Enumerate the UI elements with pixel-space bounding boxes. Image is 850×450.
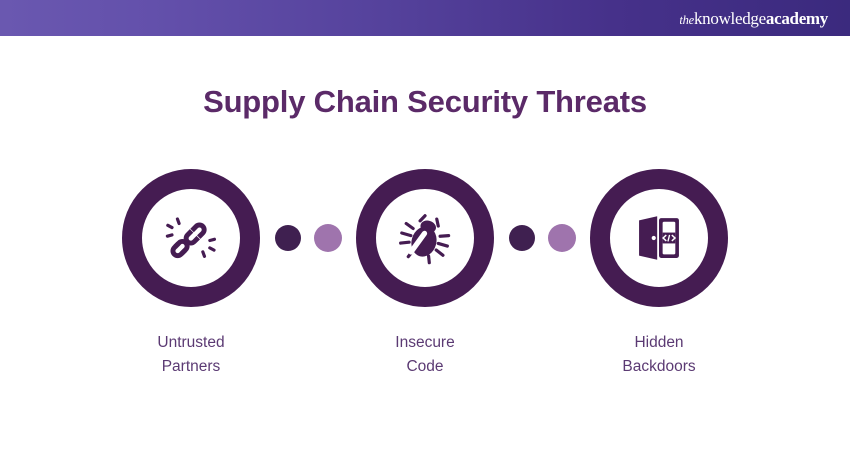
flow-node-label-insecure-code: Insecure Code bbox=[335, 331, 515, 378]
connector-dot-light bbox=[314, 224, 342, 252]
broken-chain-icon bbox=[160, 207, 222, 269]
brand-logo-the: the bbox=[679, 13, 694, 27]
flow-node-hidden-backdoors: Hidden Backdoors bbox=[590, 169, 728, 378]
bug-icon bbox=[395, 208, 455, 268]
connector-dot-light bbox=[548, 224, 576, 252]
icon-ring-hidden-backdoors bbox=[590, 169, 728, 307]
open-door-code-icon bbox=[630, 209, 688, 267]
brand-logo-academy: academy bbox=[766, 9, 828, 28]
header-band: theknowledgeacademy bbox=[0, 0, 850, 36]
icon-ring-untrusted-partners bbox=[122, 169, 260, 307]
brand-logo-knowledge: knowledge bbox=[694, 9, 766, 28]
flow-node-label-untrusted-partners: Untrusted Partners bbox=[101, 331, 281, 378]
brand-logo: theknowledgeacademy bbox=[679, 10, 828, 27]
flow-connector-2 bbox=[494, 169, 590, 307]
icon-ring-insecure-code bbox=[356, 169, 494, 307]
flow-node-insecure-code: Insecure Code bbox=[356, 169, 494, 378]
threat-flow-diagram: Untrusted Partners bbox=[0, 169, 850, 378]
flow-node-untrusted-partners: Untrusted Partners bbox=[122, 169, 260, 378]
flow-connector-1 bbox=[260, 169, 356, 307]
connector-dot-dark bbox=[275, 225, 301, 251]
flow-node-label-hidden-backdoors: Hidden Backdoors bbox=[569, 331, 749, 378]
page-title: Supply Chain Security Threats bbox=[0, 84, 850, 120]
connector-dot-dark bbox=[509, 225, 535, 251]
